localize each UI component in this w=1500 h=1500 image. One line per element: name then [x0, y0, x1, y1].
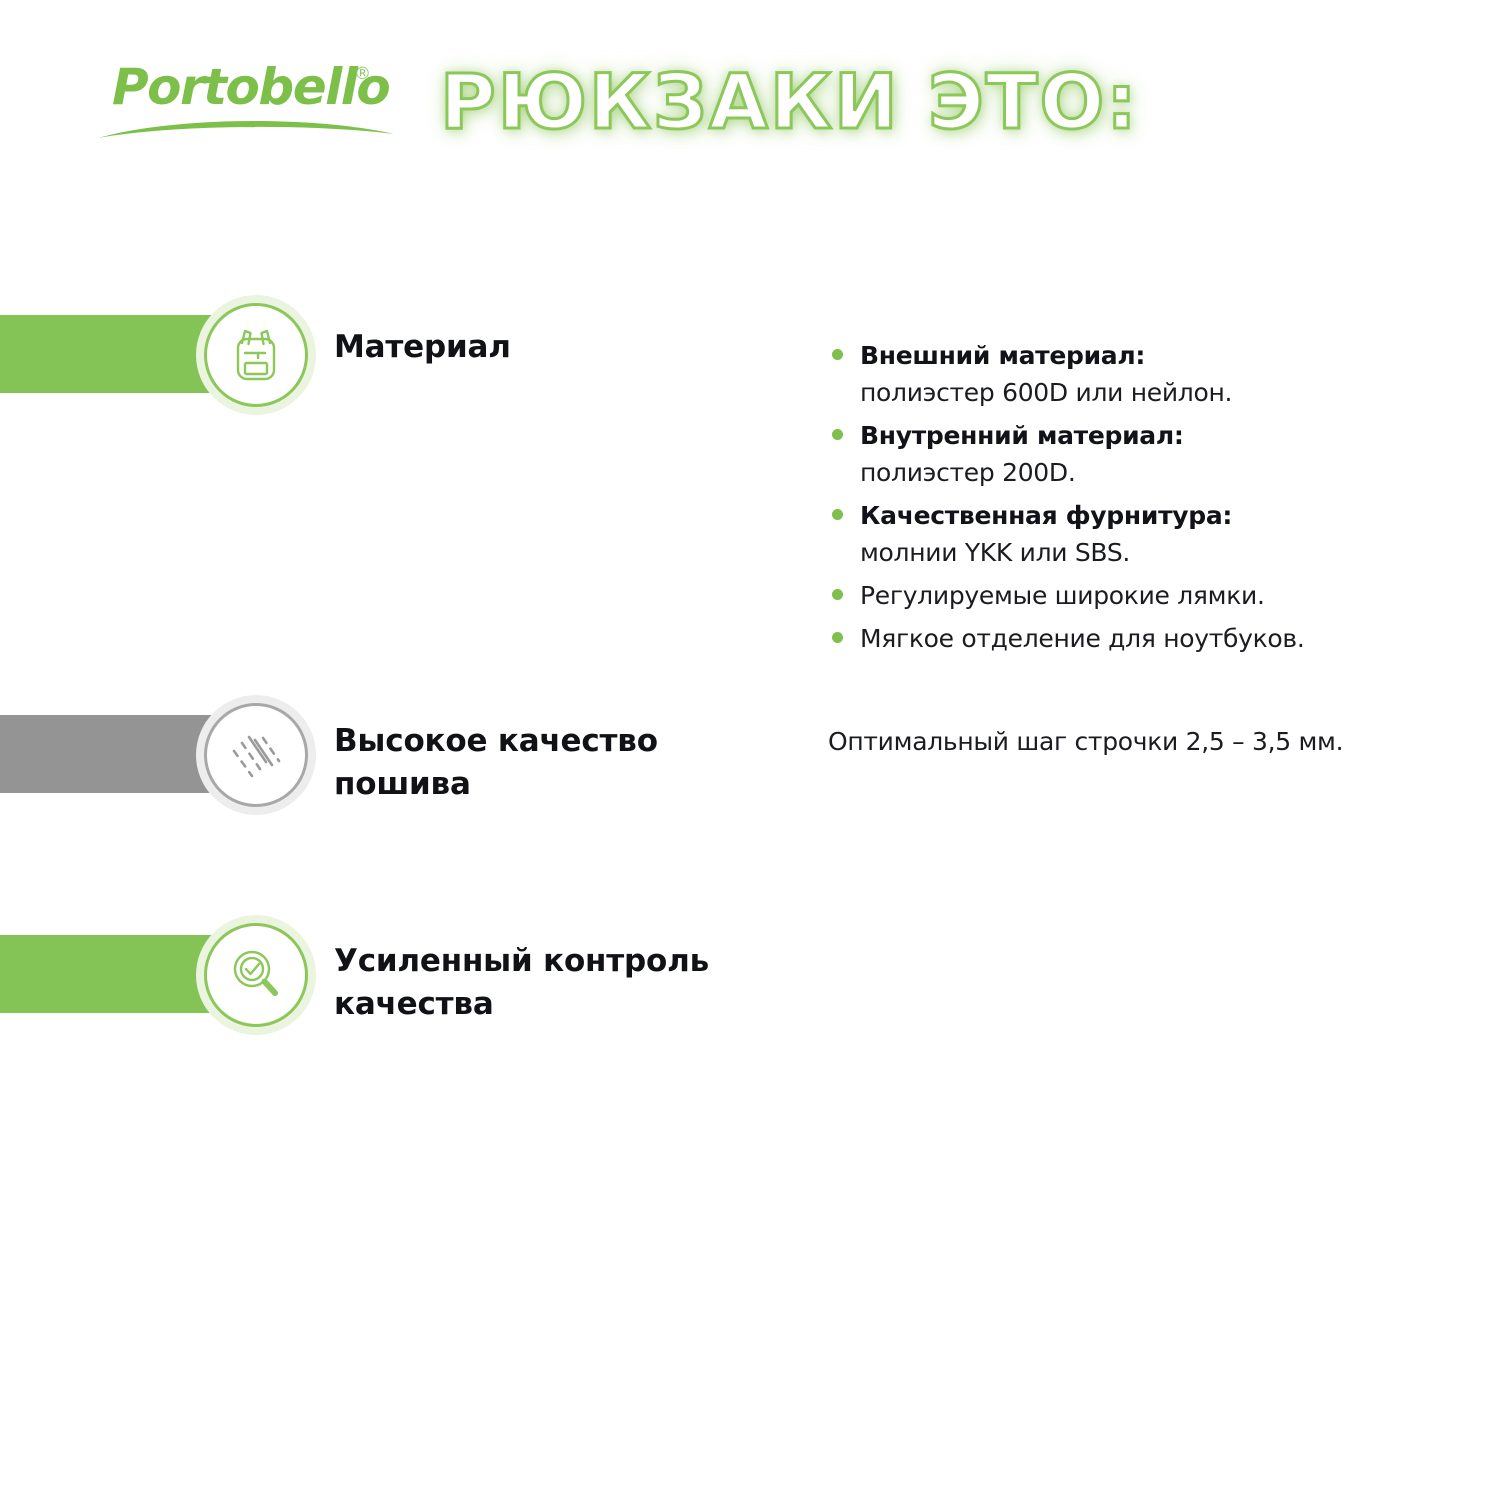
section-quality-control: Усиленный контроль качества: [0, 915, 1500, 1035]
backpack-icon: [204, 303, 308, 407]
list-item-text: полиэстер 200D.: [860, 454, 1448, 491]
list-item-text: молнии YKK или SBS.: [860, 534, 1448, 571]
bullet-dot-icon: [832, 589, 843, 600]
list-item: Качественная фурнитура: молнии YKK или S…: [828, 497, 1448, 571]
section-stitch-quality: Высокое качество пошива Оптимальный шаг …: [0, 695, 1500, 815]
brand-wordmark: Portobello: [112, 58, 389, 116]
page-title: РЮКЗАКИ ЭТО:: [440, 52, 1139, 152]
page-header: Portobello ® РЮКЗАКИ ЭТО:: [0, 0, 1500, 170]
brand-logo: Portobello ®: [112, 58, 392, 140]
bullet-dot-icon: [832, 349, 843, 360]
stitching-icon: [204, 703, 308, 807]
list-item: Внутренний материал: полиэстер 200D.: [828, 417, 1448, 491]
registered-trademark-icon: ®: [354, 64, 371, 84]
list-item-text: Регулируемые широкие лямки.: [860, 577, 1448, 614]
list-item-title: Внешний материал:: [860, 337, 1448, 374]
bullet-dot-icon: [832, 632, 843, 643]
material-bullet-list: Внешний материал: полиэстер 600D или ней…: [828, 337, 1448, 663]
list-item-title: Внутренний материал:: [860, 417, 1448, 454]
list-item-text: полиэстер 600D или нейлон.: [860, 374, 1448, 411]
section-heading-quality-control: Усиленный контроль качества: [334, 940, 709, 1026]
list-item-text: Мягкое отделение для ноутбуков.: [860, 620, 1448, 657]
bullet-dot-icon: [832, 509, 843, 520]
stitch-quality-note: Оптимальный шаг строчки 2,5 – 3,5 мм.: [828, 723, 1343, 760]
list-item: Внешний материал: полиэстер 600D или ней…: [828, 337, 1448, 411]
list-item-title: Качественная фурнитура:: [860, 497, 1448, 534]
list-item: Мягкое отделение для ноутбуков.: [828, 620, 1448, 657]
bullet-dot-icon: [832, 429, 843, 440]
list-item: Регулируемые широкие лямки.: [828, 577, 1448, 614]
magnifier-check-icon: [204, 923, 308, 1027]
swoosh-icon: [96, 114, 396, 140]
section-heading-material: Материал: [334, 326, 511, 369]
section-heading-stitch-quality: Высокое качество пошива: [334, 720, 658, 806]
section-material: Материал Внешний материал: полиэстер 600…: [0, 295, 1500, 415]
